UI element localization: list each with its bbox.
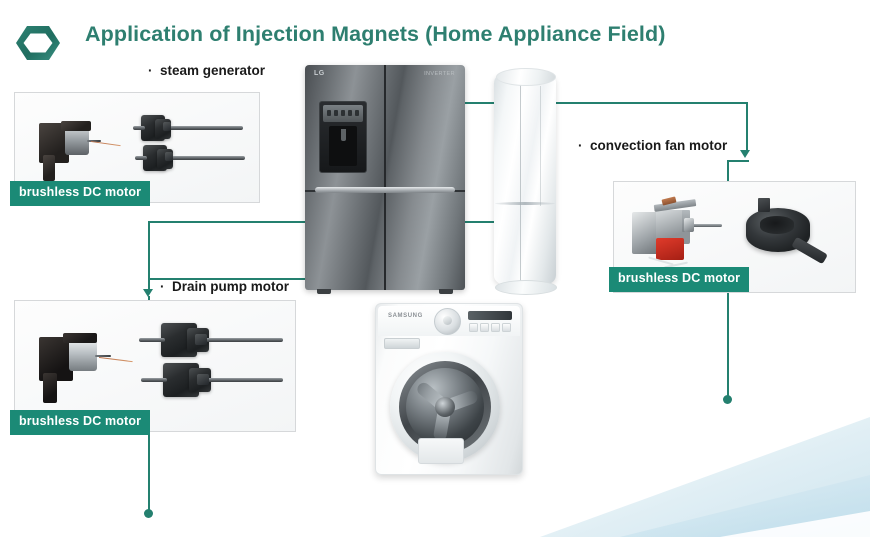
- dispenser-key: [348, 110, 352, 116]
- air-tower-image: [494, 66, 556, 291]
- washing-machine-display: [468, 311, 512, 320]
- convection-fan-connector-arrow: [740, 150, 750, 158]
- dispenser-key: [334, 110, 338, 116]
- callout-convection-fan-motor: ·convection fan motor: [578, 138, 727, 153]
- drum-hub: [435, 397, 455, 417]
- washing-machine-detergent-drawer: [384, 338, 420, 349]
- refrigerator-water-dispenser: [319, 101, 367, 173]
- washing-machine-door-glass: [406, 368, 484, 446]
- bracket-motor-photo: [33, 113, 119, 185]
- background-wave-decoration-3: [720, 511, 870, 537]
- air-tower-seam-secondary: [540, 86, 541, 206]
- refrigerator-body: LG INVERTER: [305, 65, 465, 290]
- convection-fan-connector-vertical: [746, 102, 748, 152]
- background-wave-decoration-2: [620, 475, 870, 537]
- background-wave-decoration: [540, 417, 870, 537]
- dispenser-key: [355, 110, 359, 116]
- panel-bottom-left-badge: brushless DC motor: [10, 410, 150, 435]
- washing-machine-brand-label: SAMSUNG: [388, 313, 423, 319]
- callout-label: Drain pump motor: [172, 279, 289, 294]
- page-title: Application of Injection Magnets (Home A…: [85, 22, 665, 47]
- hexagon-logo-icon: [13, 22, 63, 64]
- bullet-marker: ·: [578, 138, 590, 153]
- washing-machine-image: SAMSUNG: [375, 303, 523, 475]
- panel-right-badge: brushless DC motor: [609, 267, 749, 292]
- callout-drain-pump-motor: ·Drain pump motor: [160, 279, 289, 294]
- refrigerator-vertical-seam: [384, 65, 386, 290]
- washing-machine-program-dial: [434, 308, 461, 335]
- callout-label: convection fan motor: [590, 138, 727, 153]
- drain-pump-drop-dot: [144, 509, 153, 518]
- refrigerator-foot: [439, 289, 453, 294]
- air-tower-base: [495, 280, 557, 295]
- bullet-marker: ·: [148, 63, 160, 78]
- washing-machine-filter-hatch: [418, 438, 464, 464]
- dispenser-spout: [341, 129, 346, 141]
- callout-label: steam generator: [160, 63, 265, 78]
- washing-machine-body: SAMSUNG: [375, 303, 523, 475]
- refrigerator-foot: [317, 289, 331, 294]
- dispenser-key: [327, 110, 331, 116]
- refrigerator-handle: [315, 187, 456, 193]
- steam-generator-connector-vertical: [148, 221, 150, 291]
- panel-right-drop-dot: [723, 395, 732, 404]
- refrigerator-sub-label: INVERTER: [424, 71, 455, 77]
- air-tower-seam: [520, 84, 521, 290]
- panel-right-drop-elbow: [727, 160, 749, 162]
- refrigerator-image: LG INVERTER: [305, 65, 465, 290]
- convection-fan-connector-horizontal: [437, 102, 748, 104]
- dispenser-cavity: [329, 126, 357, 166]
- air-tower-top-cap: [496, 68, 556, 86]
- slide-canvas: Application of Injection Magnets (Home A…: [0, 0, 870, 537]
- two-pole-rotor-photo: [133, 109, 251, 189]
- rotor-disc-photo: [742, 198, 846, 282]
- bullet-marker: ·: [160, 279, 172, 294]
- air-tower-body: [494, 74, 556, 284]
- two-pole-rotor-photo: [139, 315, 285, 417]
- air-tower-band: [495, 202, 555, 205]
- dispenser-key: [341, 110, 345, 116]
- washing-machine-buttons: [469, 323, 511, 332]
- bracket-motor-photo: [35, 323, 135, 409]
- panel-top-left-badge: brushless DC motor: [10, 181, 150, 206]
- callout-steam-generator: ·steam generator: [148, 63, 265, 78]
- refrigerator-brand-label: LG: [314, 70, 325, 77]
- dispenser-control-panel: [323, 105, 363, 122]
